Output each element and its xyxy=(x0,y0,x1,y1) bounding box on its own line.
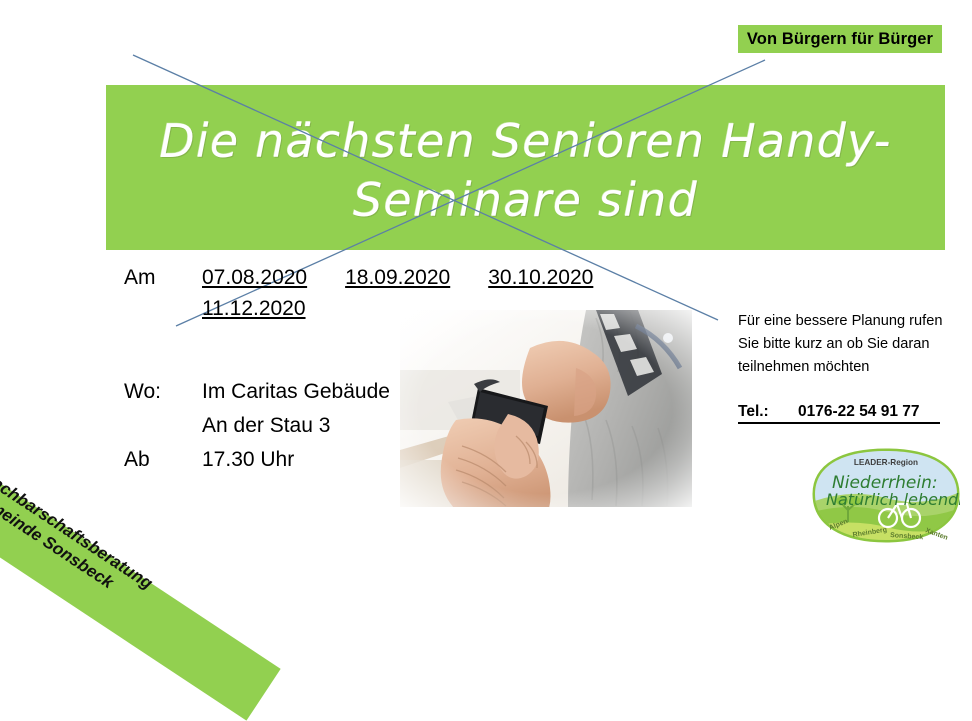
telephone-row: Tel.: 0176-22 54 91 77 xyxy=(738,403,940,424)
ribbon-text-group: Die Nachbarschaftsberatung der Gemeinde … xyxy=(0,440,303,712)
date-item: 07.08.2020 xyxy=(202,262,307,293)
ribbon-line-2: der Gemeinde Sonsbeck xyxy=(0,466,286,704)
slogan-badge-label: Von Bürgern für Bürger xyxy=(747,30,933,49)
logo-name-line-2: Natürlich lebendig! xyxy=(826,490,960,509)
where-label: Wo: xyxy=(124,375,202,409)
date-item: 30.10.2020 xyxy=(488,262,593,293)
logo-top-label: LEADER-Region xyxy=(854,458,918,467)
when-label: Am xyxy=(124,262,202,293)
date-item: 18.09.2020 xyxy=(345,262,450,293)
date-item: 11.12.2020 xyxy=(202,293,306,324)
contact-block: Für eine bessere Planung rufen Sie bitte… xyxy=(738,310,948,424)
ribbon-band xyxy=(0,448,281,720)
photo-illustration xyxy=(400,310,692,507)
time-label: Ab xyxy=(124,443,202,477)
leader-region-logo: LEADER-Region Niederrhein: Natürlich leb… xyxy=(812,448,960,544)
leader-logo-graphic: LEADER-Region Niederrhein: Natürlich leb… xyxy=(812,448,960,544)
where-value-line-1: Im Caritas Gebäude xyxy=(202,375,390,409)
ribbon-line-1: Die Nachbarschaftsberatung xyxy=(0,448,297,686)
slogan-badge: Von Bürgern für Bürger xyxy=(738,25,942,53)
poster-canvas: Von Bürgern für Bürger Die nächsten Seni… xyxy=(0,0,972,549)
tel-label: Tel.: xyxy=(738,403,798,421)
where-value-line-2: An der Stau 3 xyxy=(202,409,330,443)
time-value: 17.30 Uhr xyxy=(202,443,294,477)
tel-number[interactable]: 0176-22 54 91 77 xyxy=(798,403,920,421)
seniors-smartphone-photo xyxy=(400,310,692,507)
headline-banner xyxy=(106,85,945,250)
planning-note: Für eine bessere Planung rufen Sie bitte… xyxy=(738,310,948,379)
